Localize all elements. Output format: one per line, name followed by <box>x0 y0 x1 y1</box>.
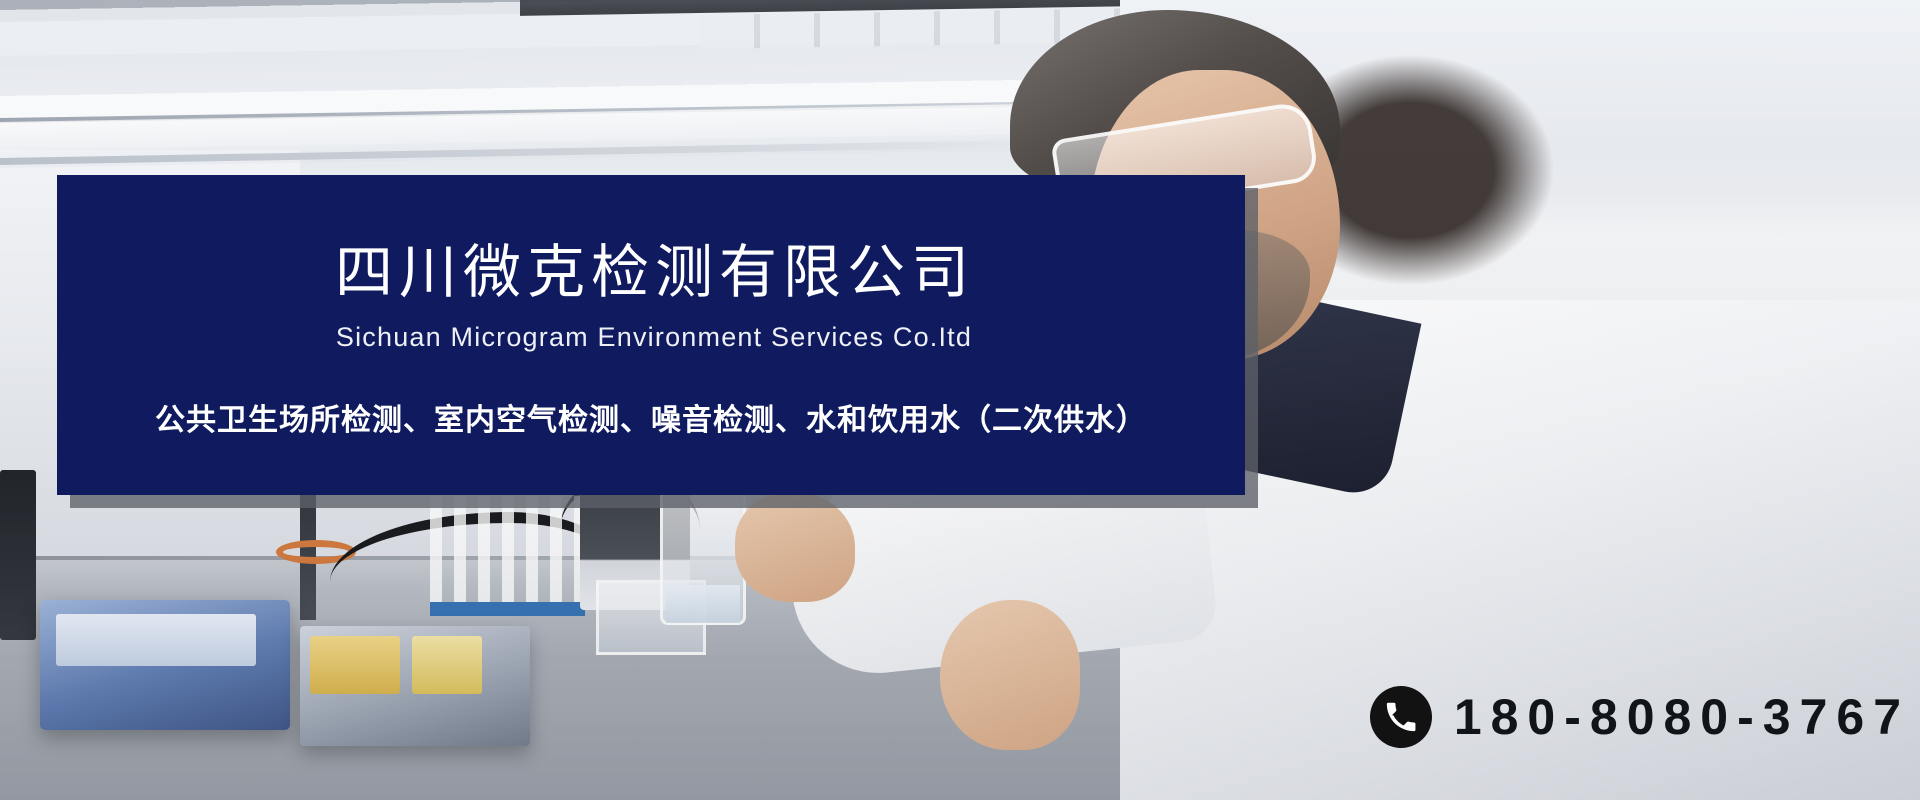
blue-instrument-case <box>40 600 290 730</box>
phone-icon <box>1370 686 1432 748</box>
gray-instrument-case <box>300 626 530 746</box>
equipment-stand-left <box>0 470 36 640</box>
headline-panel: 四川微克检测有限公司 Sichuan Microgram Environment… <box>57 175 1245 495</box>
company-name-en: Sichuan Microgram Environment Services C… <box>57 322 1245 353</box>
scientist-hand-left <box>735 492 855 602</box>
beaker-liquid <box>666 585 740 623</box>
scientist-hand-right <box>940 600 1080 750</box>
services-list: 公共卫生场所检测、室内空气检测、噪音检测、水和饮用水（二次供水） <box>57 395 1245 439</box>
hero-banner: 四川微克检测有限公司 Sichuan Microgram Environment… <box>0 0 1920 800</box>
phone-number[interactable]: 180-8080-3767 <box>1454 688 1910 746</box>
contact-phone-block[interactable]: 180-8080-3767 <box>1370 686 1910 748</box>
test-tube-rack <box>430 496 585 616</box>
company-name-cn: 四川微克检测有限公司 <box>57 239 1245 307</box>
